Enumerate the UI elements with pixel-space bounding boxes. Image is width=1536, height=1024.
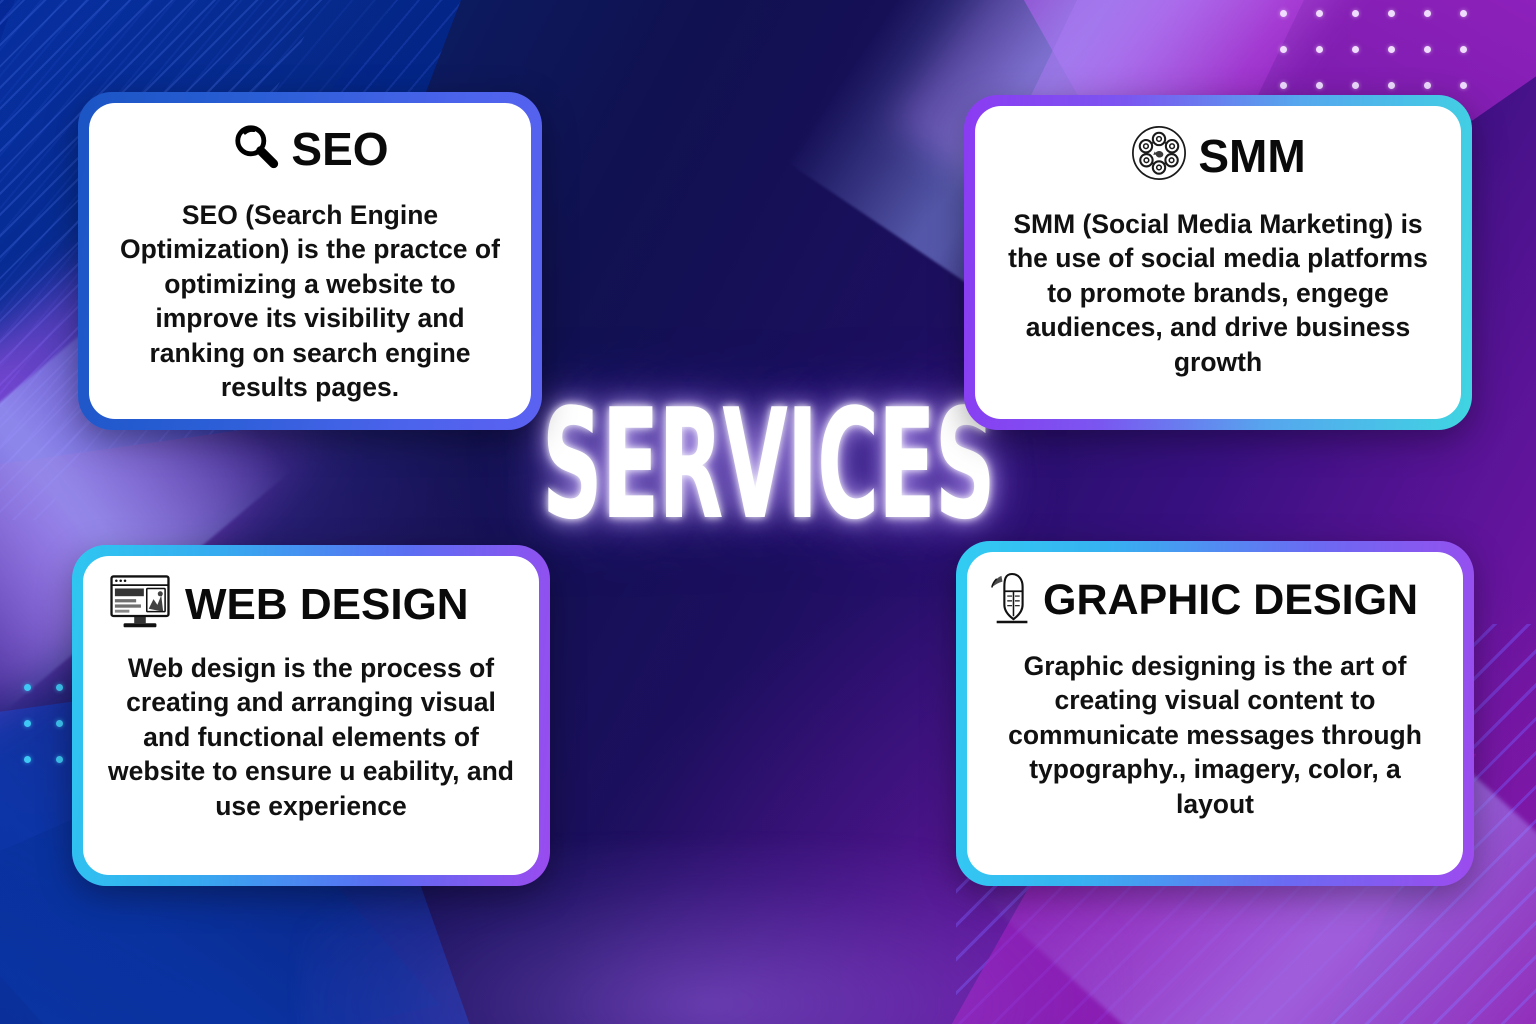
card-body-seo: SEO (Search Engine Optimization) is the …	[111, 198, 509, 405]
card-title-smm: SMM	[1198, 133, 1305, 179]
card-header-seo: SEO	[111, 121, 509, 176]
desktop-monitor-icon	[109, 574, 171, 635]
card-header-web-design: WEB DESIGN	[105, 574, 517, 635]
magnifying-glass-icon	[231, 121, 281, 176]
social-network-circle-icon	[1130, 124, 1188, 187]
card-title-web-design: WEB DESIGN	[185, 583, 469, 627]
pen-tool-icon	[989, 570, 1037, 631]
card-inner-smm: SMM SMM (Social Media Marketing) is the …	[975, 106, 1461, 419]
card-title-graphic-design: GRAPHIC DESIGN	[1043, 579, 1418, 622]
service-card-smm[interactable]: SMM SMM (Social Media Marketing) is the …	[964, 95, 1472, 430]
service-card-graphic-design[interactable]: GRAPHIC DESIGN Graphic designing is the …	[956, 541, 1474, 886]
service-card-seo[interactable]: SEO SEO (Search Engine Optimization) is …	[78, 92, 542, 430]
card-body-smm: SMM (Social Media Marketing) is the use …	[997, 207, 1439, 379]
services-poster: SERVICES SEO SEO (Search Engine Optimiza…	[0, 0, 1536, 1024]
card-inner-seo: SEO SEO (Search Engine Optimization) is …	[89, 103, 531, 419]
card-inner-web-design: WEB DESIGN Web design is the process of …	[83, 556, 539, 875]
card-body-web-design: Web design is the process of creating an…	[105, 651, 517, 823]
card-header-graphic-design: GRAPHIC DESIGN	[989, 570, 1441, 631]
page-title: SERVICES	[542, 394, 995, 535]
service-card-web-design[interactable]: WEB DESIGN Web design is the process of …	[72, 545, 550, 886]
card-title-seo: SEO	[291, 126, 388, 172]
card-inner-graphic-design: GRAPHIC DESIGN Graphic designing is the …	[967, 552, 1463, 875]
card-body-graphic-design: Graphic designing is the art of creating…	[989, 649, 1441, 821]
card-header-smm: SMM	[997, 124, 1439, 187]
